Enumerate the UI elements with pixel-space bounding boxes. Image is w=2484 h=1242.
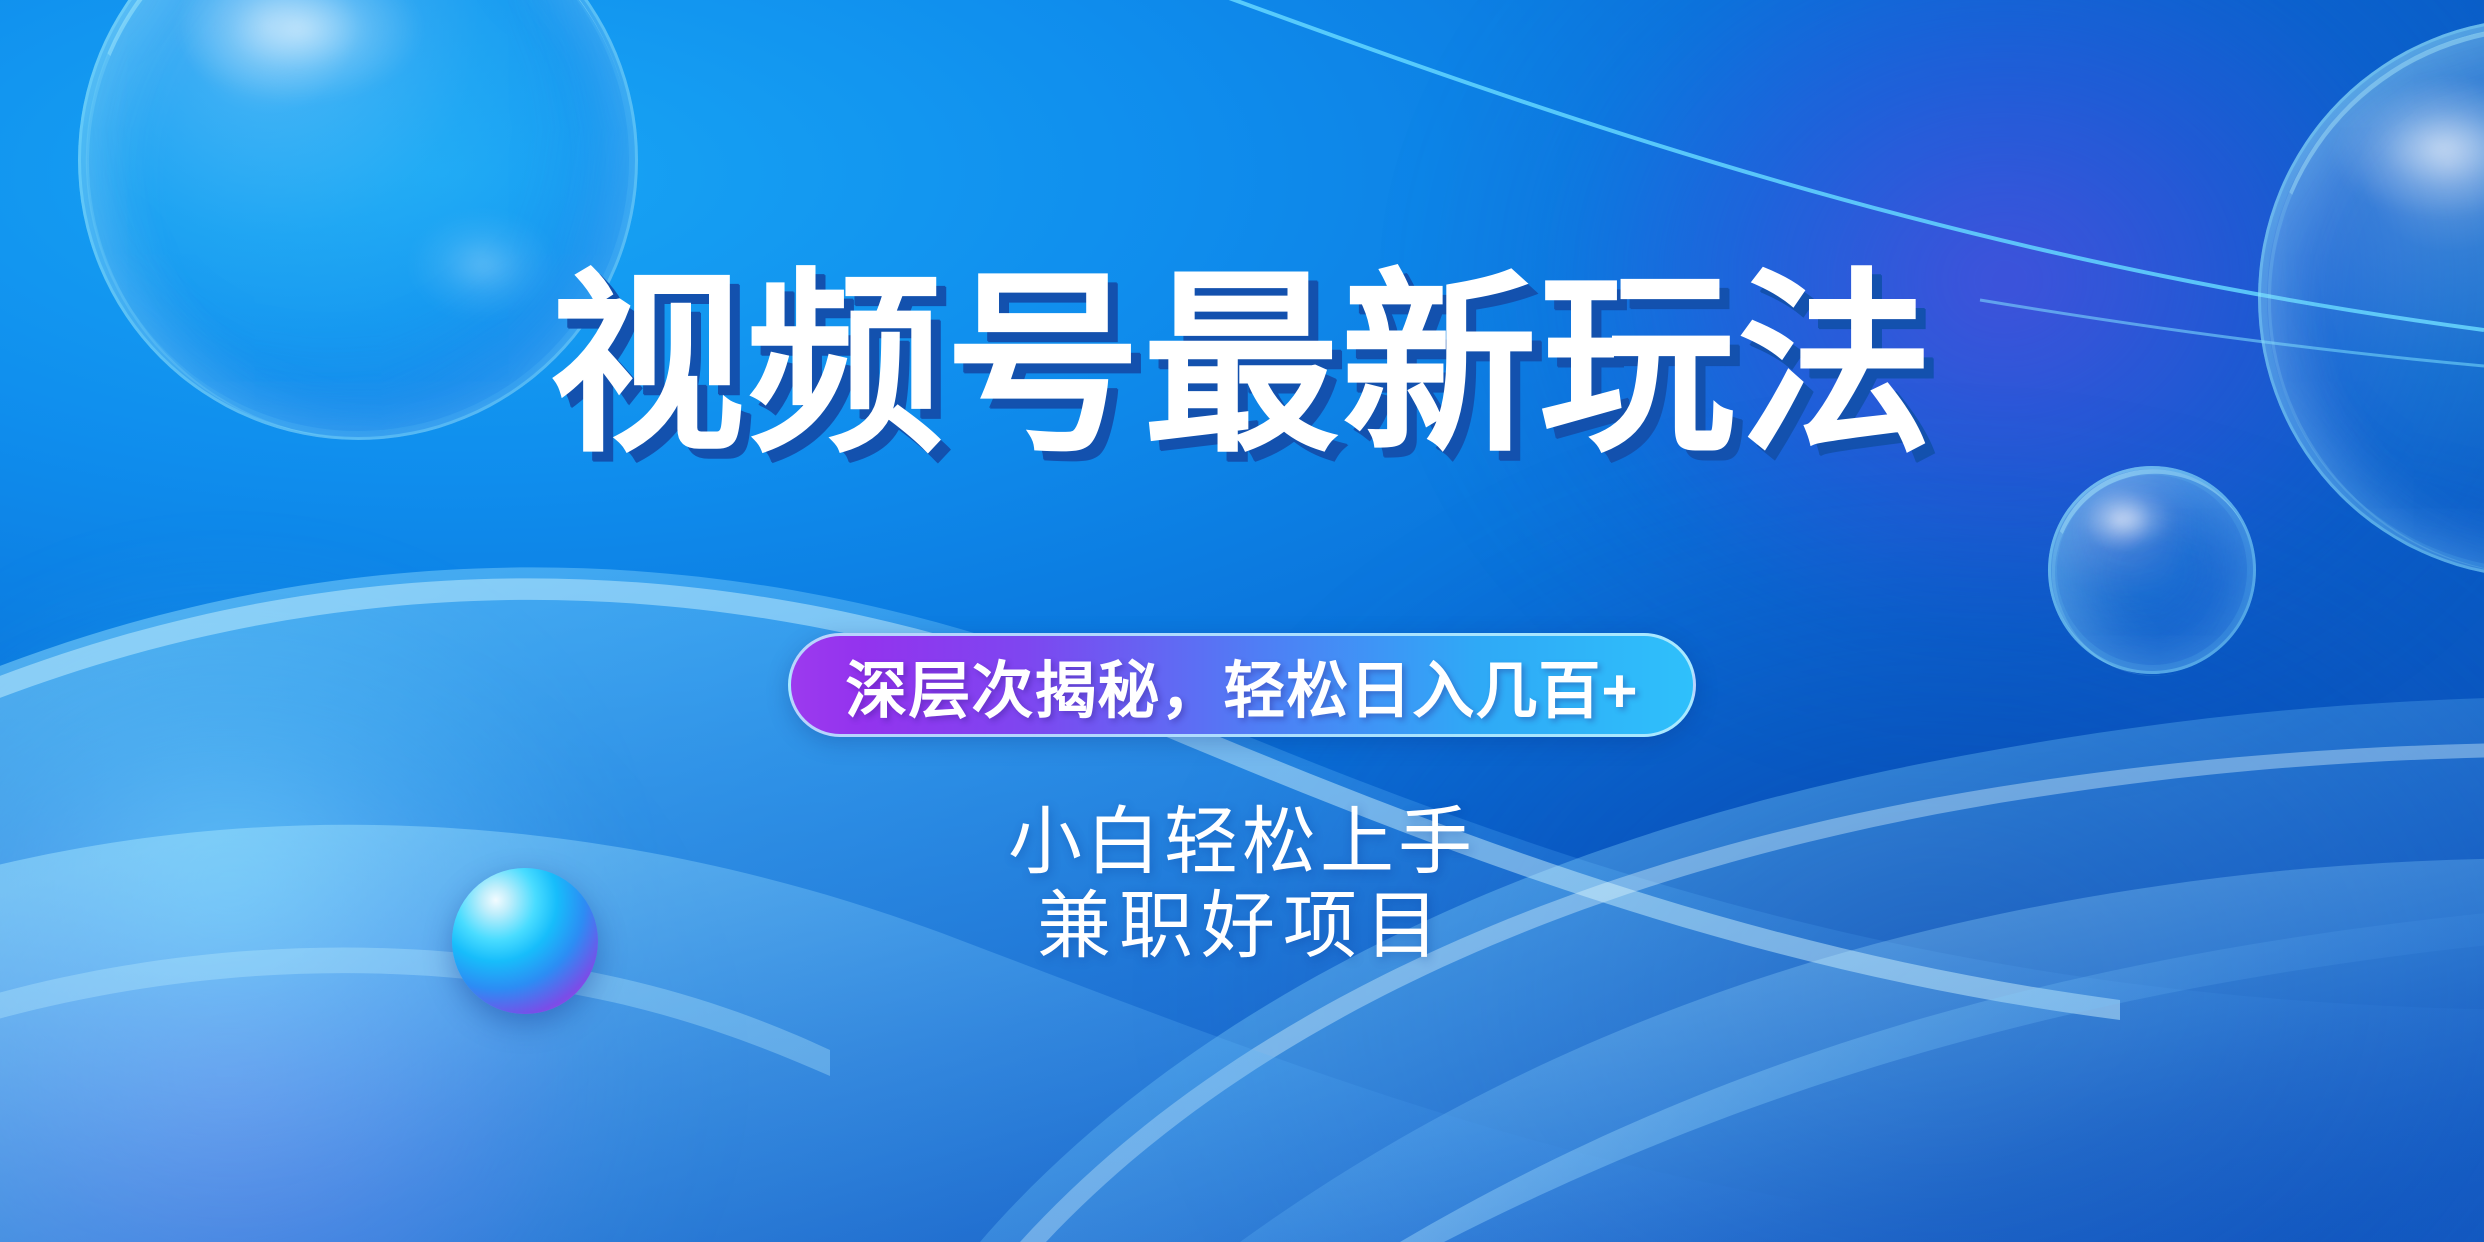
status-badge: 深层次揭秘，轻松日入几百+ [788, 633, 1695, 737]
tagline-line-2: 兼职好项目 [0, 884, 2484, 968]
page-title: 视频号最新玩法 [0, 268, 2484, 464]
tagline-line-1: 小白轻松上手 [0, 800, 2484, 884]
status-badge-label: 深层次揭秘，轻松日入几百+ [845, 640, 1638, 730]
tagline: 小白轻松上手 兼职好项目 [0, 800, 2484, 969]
promo-poster: 视频号最新玩法 深层次揭秘，轻松日入几百+ 小白轻松上手 兼职好项目 [0, 0, 2484, 1242]
badge-container: 深层次揭秘，轻松日入几百+ [0, 633, 2484, 737]
